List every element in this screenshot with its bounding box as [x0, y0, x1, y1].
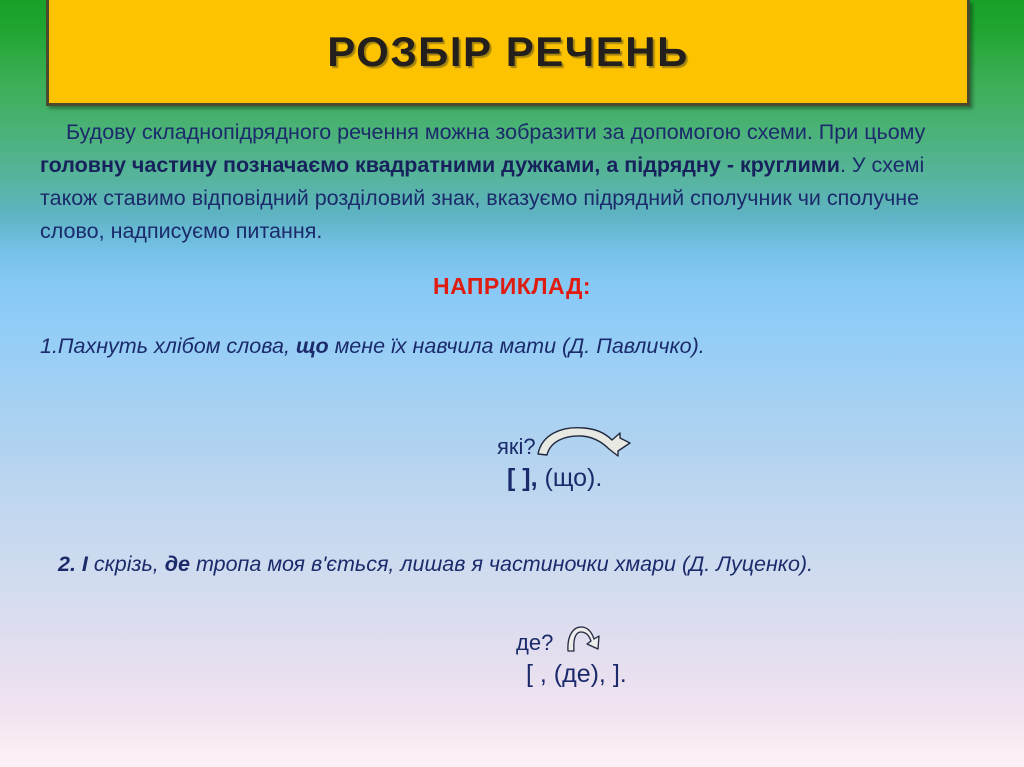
scheme-1-formula-sub: (що).: [538, 464, 603, 492]
scheme-diagram-2: де? [ , (де), ].: [516, 620, 627, 687]
curved-arrow-narrow-icon: [565, 624, 603, 654]
sentence-2-conjunction: де: [165, 552, 190, 576]
scheme-1-formula-main: [ ],: [507, 464, 538, 492]
example-heading: НАПРИКЛАД:: [0, 273, 1024, 300]
sentence-1-after: мене їх навчила мати (Д. Павличко).: [329, 334, 705, 358]
curved-arrow-wide-icon: [536, 424, 632, 458]
example-sentence-1: 1.Пахнуть хлібом слова, що мене їх навчи…: [40, 334, 705, 359]
page-title: РОЗБІР РЕЧЕНЬ: [327, 28, 689, 76]
sentence-2-lead: 2. І: [58, 552, 88, 576]
scheme-2-question-row: де?: [516, 620, 627, 654]
title-banner: РОЗБІР РЕЧЕНЬ: [46, 0, 970, 106]
scheme-2-formula-sub: [ , (де), ].: [526, 660, 627, 688]
sentence-2-mid: скрізь,: [88, 552, 165, 576]
scheme-1-formula: [ ], (що).: [507, 466, 632, 491]
sentence-2-after: тропа моя в'ється, лишав я частиночки хм…: [190, 552, 813, 576]
scheme-diagram-1: які? [ ], (що).: [497, 424, 632, 491]
scheme-1-question-row: які?: [497, 424, 632, 458]
intro-paragraph: Будову складнопідрядного речення можна з…: [40, 116, 980, 248]
slide-canvas: РОЗБІР РЕЧЕНЬ Будову складнопідрядного р…: [0, 0, 1024, 767]
intro-text-part1: Будову складнопідрядного речення можна з…: [66, 120, 925, 144]
scheme-2-question-label: де?: [516, 632, 553, 654]
scheme-2-formula: [ , (де), ].: [526, 662, 627, 687]
example-sentence-2: 2. І скрізь, де тропа моя в'ється, лишав…: [58, 552, 813, 577]
scheme-1-question-label: які?: [497, 436, 536, 458]
sentence-1-before: 1.Пахнуть хлібом слова,: [40, 334, 296, 358]
sentence-1-conjunction: що: [296, 334, 329, 358]
intro-text-bold: головну частину позначаємо квадратними д…: [40, 153, 840, 177]
